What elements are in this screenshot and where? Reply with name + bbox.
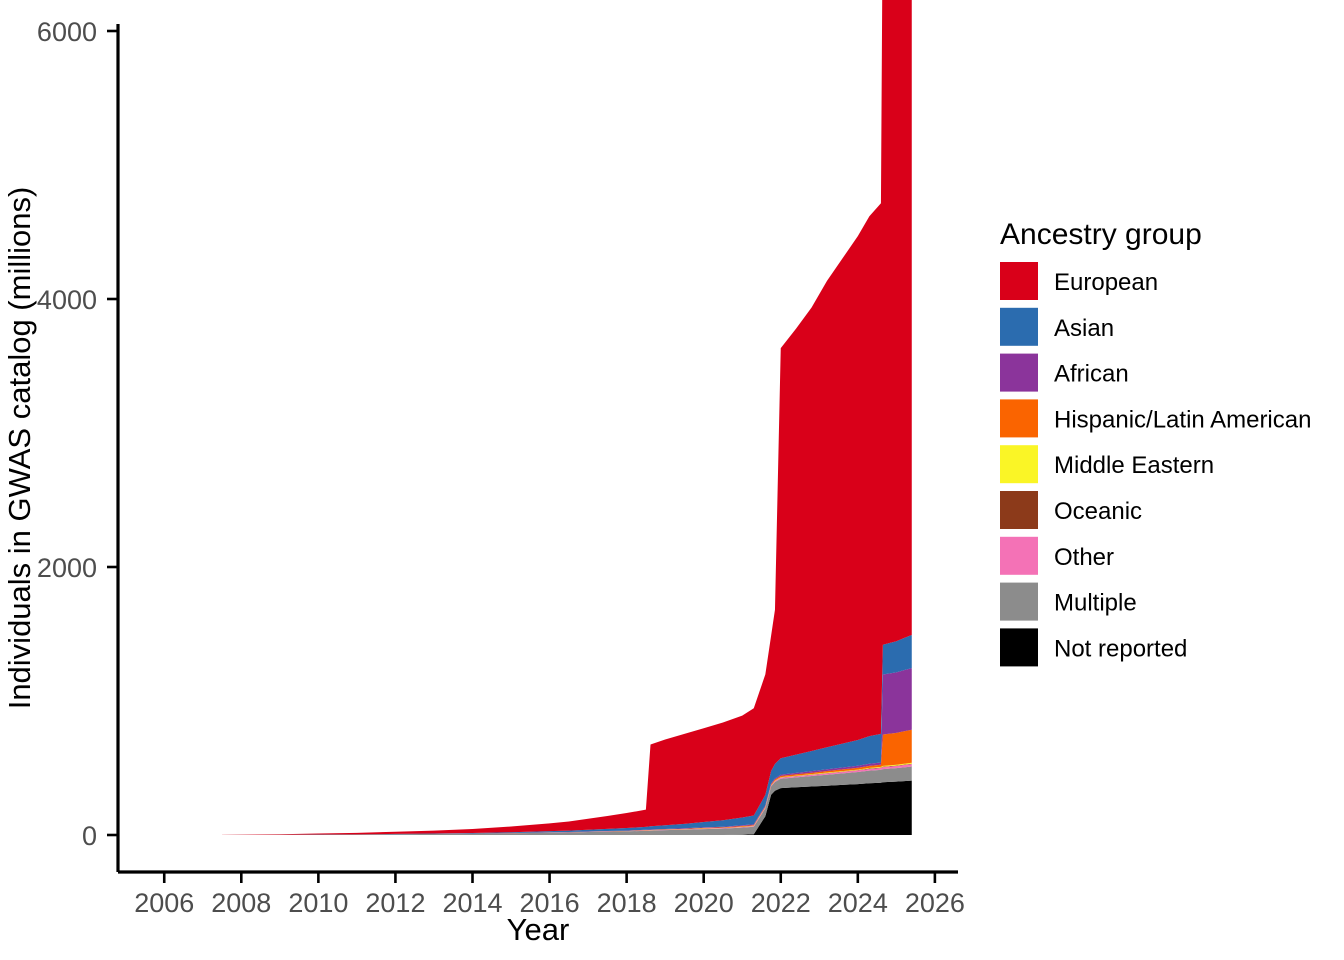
x-tick-label: 2014	[442, 888, 502, 918]
legend-label: Other	[1054, 544, 1114, 571]
legend-title: Ancestry group	[1000, 218, 1202, 251]
y-tick-label: 2000	[37, 553, 97, 583]
legend-swatch	[1000, 491, 1038, 529]
legend-swatch	[1000, 262, 1038, 300]
legend-swatch	[1000, 537, 1038, 575]
x-tick-label: 2018	[597, 888, 657, 918]
x-tick-label: 2012	[365, 888, 425, 918]
legend-label: Not reported	[1054, 635, 1187, 662]
legend-label: Middle Eastern	[1054, 452, 1214, 479]
legend-swatch	[1000, 583, 1038, 621]
legend-swatch	[1000, 628, 1038, 666]
legend-label: Oceanic	[1054, 498, 1142, 525]
legend-items: EuropeanAsianAfricanHispanic/Latin Ameri…	[1000, 262, 1311, 666]
y-tick-label: 4000	[37, 285, 97, 315]
y-tick-label: 0	[82, 821, 97, 851]
legend-label: Hispanic/Latin American	[1054, 406, 1311, 433]
legend-swatch	[1000, 445, 1038, 483]
legend: Ancestry group EuropeanAsianAfricanHispa…	[1000, 218, 1311, 666]
x-tick-label: 2010	[288, 888, 348, 918]
legend-label: Asian	[1054, 315, 1114, 342]
x-tick-label: 2006	[134, 888, 194, 918]
x-tick-label: 2022	[751, 888, 811, 918]
x-tick-label: 2008	[211, 888, 271, 918]
figure-root: 0200040006000 20062008201020122014201620…	[0, 0, 1344, 960]
legend-label: African	[1054, 361, 1129, 388]
legend-label: Multiple	[1054, 590, 1137, 617]
y-axis-title: Individuals in GWAS catalog (millions)	[2, 187, 37, 710]
stacked-area-chart: 0200040006000 20062008201020122014201620…	[0, 0, 1344, 960]
legend-swatch	[1000, 399, 1038, 437]
y-axis-ticks: 0200040006000	[37, 17, 118, 851]
x-tick-label: 2026	[905, 888, 965, 918]
x-tick-label: 2020	[674, 888, 734, 918]
y-tick-label: 6000	[37, 17, 97, 47]
legend-swatch	[1000, 354, 1038, 392]
x-axis-title: Year	[507, 912, 570, 947]
x-tick-label: 2024	[828, 888, 888, 918]
legend-label: European	[1054, 269, 1158, 296]
legend-swatch	[1000, 308, 1038, 346]
